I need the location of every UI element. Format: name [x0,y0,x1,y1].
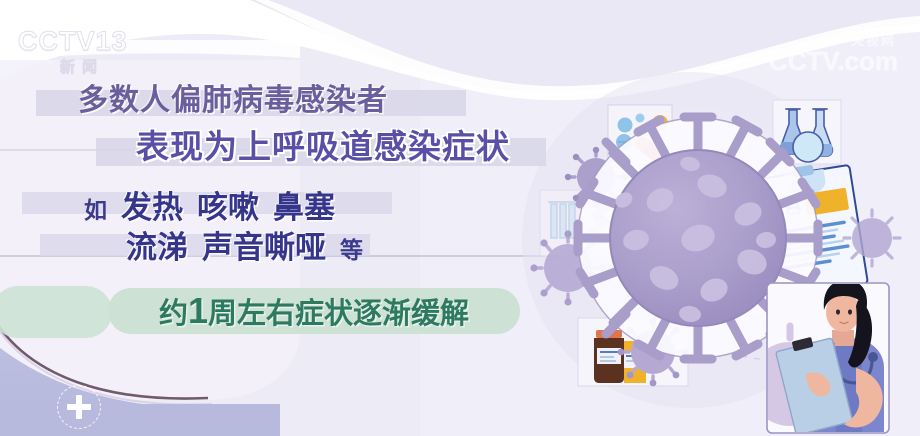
medical-cross-icon [57,385,101,429]
symptom-hoarseness: 声音嘶哑 [202,230,326,265]
cctv13-logo-text: CCTV13 [18,28,146,55]
headline-line-2: 表现为上呼吸道感染症状 [136,130,736,163]
symptom-block: 如发热咳嗽鼻塞 流涕声音嘶哑等 [0,186,560,274]
headline-block: 多数人偏肺病毒感染者 表现为上呼吸道感染症状 [0,82,600,174]
symptom-line-1: 如发热咳嗽鼻塞 [84,192,644,223]
symptom-suffix: 等 [340,237,363,263]
watermark-main-text: CCTV.com [769,48,898,74]
headline-line-1: 多数人偏肺病毒感染者 [78,86,678,116]
virus-small-right [844,210,900,266]
symptom-fever: 发热 [121,190,183,225]
headline-row-2: 表现为上呼吸道感染症状 [0,128,600,174]
recovery-callout-text: 约1周左右症状逐渐缓解 [159,293,469,329]
symptom-prefix: 如 [84,197,107,223]
callout-suffix: 周左右症状逐渐缓解 [208,298,469,330]
recovery-callout-pill: 约1周左右症状逐渐缓解 [108,288,520,334]
symptom-cough: 咳嗽 [197,190,259,225]
symptom-row-2: 流涕声音嘶哑等 [0,230,560,274]
symptom-runny-nose: 流涕 [126,230,188,265]
broadcast-graphic: CCTV13 新闻 央视网 CCTV.com 多数人偏肺病毒感染者 表现为上呼吸… [0,0,920,436]
callout-number: 1 [188,290,208,331]
symptom-line-2: 流涕声音嘶哑等 [126,232,686,263]
cctv13-logo: CCTV13 新闻 [18,28,146,82]
callout-prefix: 约 [159,298,188,330]
symptom-row-1: 如发热咳嗽鼻塞 [0,186,560,230]
symptom-nasal-congestion: 鼻塞 [273,190,335,225]
cctv13-channel-name: 新闻 [18,60,146,75]
cctv-com-watermark: 央视网 CCTV.com [769,34,898,74]
headline-row-1: 多数人偏肺病毒感染者 [0,82,600,128]
